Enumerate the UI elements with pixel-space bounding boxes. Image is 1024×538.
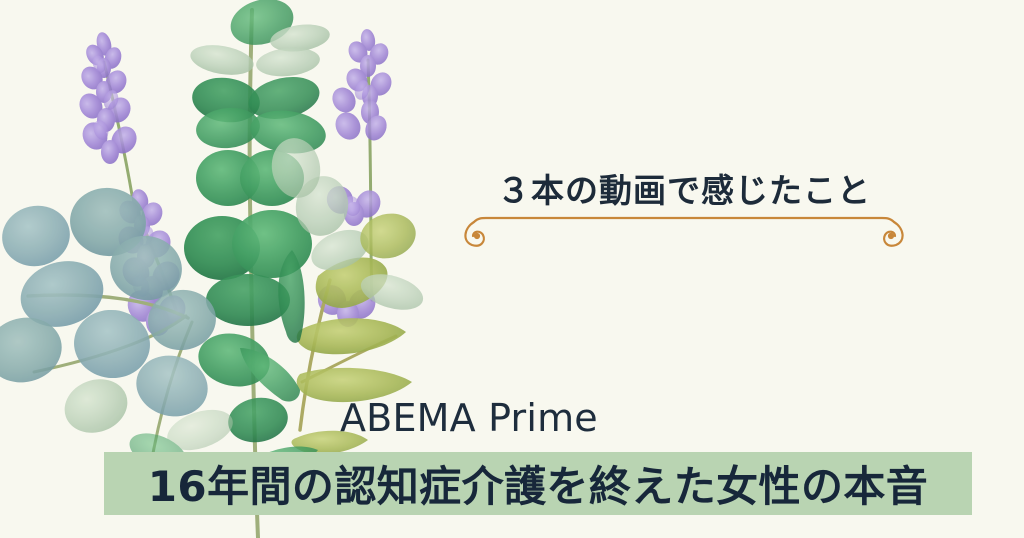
lavender-sprig-left (75, 31, 142, 195)
main-title: 16年間の認知症介護を終えた女性の本音 (104, 452, 972, 515)
headline-text: ３本の動画で感じたこと (452, 170, 916, 211)
silver-dollar-eucalyptus (0, 183, 220, 470)
lavender-sprig-right (314, 28, 396, 327)
blog-header-canvas: ３本の動画で感じたこと ABEMA Prime 16年間の認知症介護を終えた女性… (0, 0, 1024, 538)
ornamental-spiral-divider-icon (452, 215, 916, 249)
headline-block: ３本の動画で感じたこと (452, 170, 916, 249)
lavender-sprig-mid (114, 187, 191, 336)
program-name: ABEMA Prime (340, 396, 598, 440)
